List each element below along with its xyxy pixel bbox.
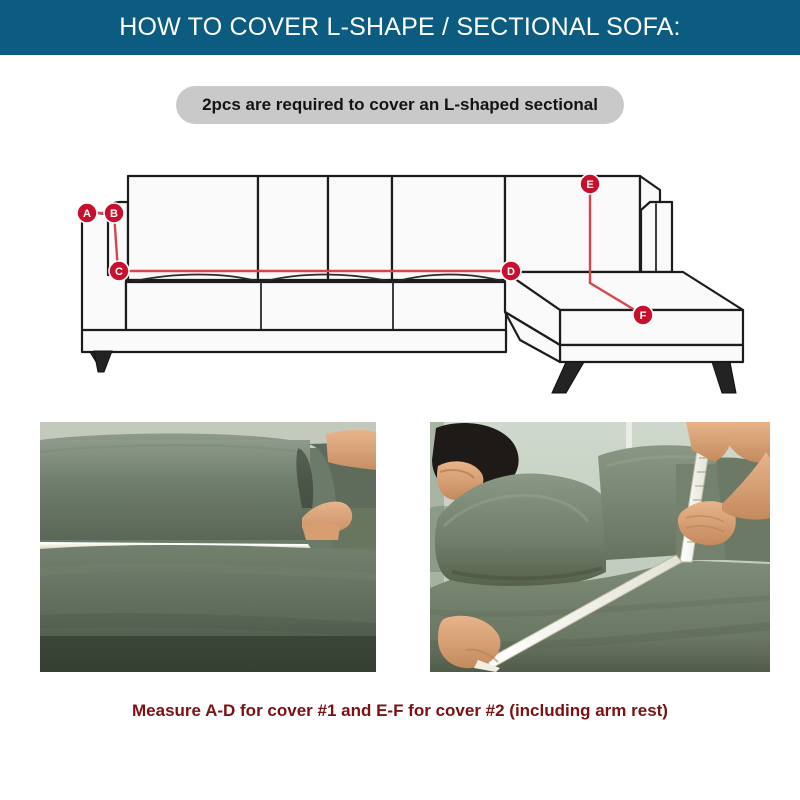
page-title: HOW TO COVER L-SHAPE / SECTIONAL SOFA: [119,15,680,40]
notice-pill: 2pcs are required to cover an L-shaped s… [176,86,624,124]
header-banner: HOW TO COVER L-SHAPE / SECTIONAL SOFA: [0,0,800,55]
svg-text:A: A [83,208,91,220]
marker-F: F [633,305,653,325]
photo-measuring-sofa-length [430,422,770,672]
svg-text:B: B [110,208,118,220]
svg-text:E: E [586,179,593,191]
marker-D: D [501,261,521,281]
marker-E: E [580,174,600,194]
photo-measuring-seat-depth [40,422,376,672]
sofa-diagram: .ol { fill:#fafafa; stroke:#1c1c1c; stro… [0,140,800,410]
marker-A: A [77,203,97,223]
svg-text:D: D [507,266,515,278]
marker-B: B [104,203,124,223]
measurement-instruction: Measure A-D for cover #1 and E-F for cov… [132,702,668,719]
notice-row: 2pcs are required to cover an L-shaped s… [0,86,800,124]
marker-C: C [109,261,129,281]
footer-row: Measure A-D for cover #1 and E-F for cov… [0,702,800,719]
svg-text:C: C [115,266,123,278]
svg-text:F: F [640,310,647,322]
